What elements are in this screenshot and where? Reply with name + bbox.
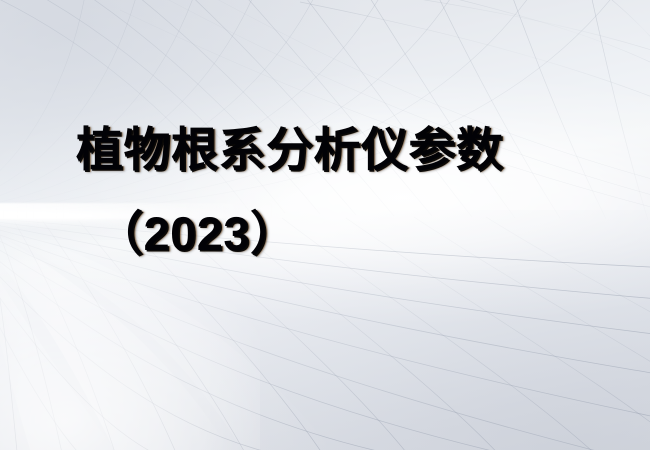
- slide-title-line-1: 植物根系分析仪参数: [76, 124, 504, 177]
- slide-title-block: 植物根系分析仪参数 （2023）: [0, 0, 650, 450]
- title-slide: 植物根系分析仪参数 （2023）: [0, 0, 650, 450]
- slide-title-line-2: （2023）: [96, 208, 298, 261]
